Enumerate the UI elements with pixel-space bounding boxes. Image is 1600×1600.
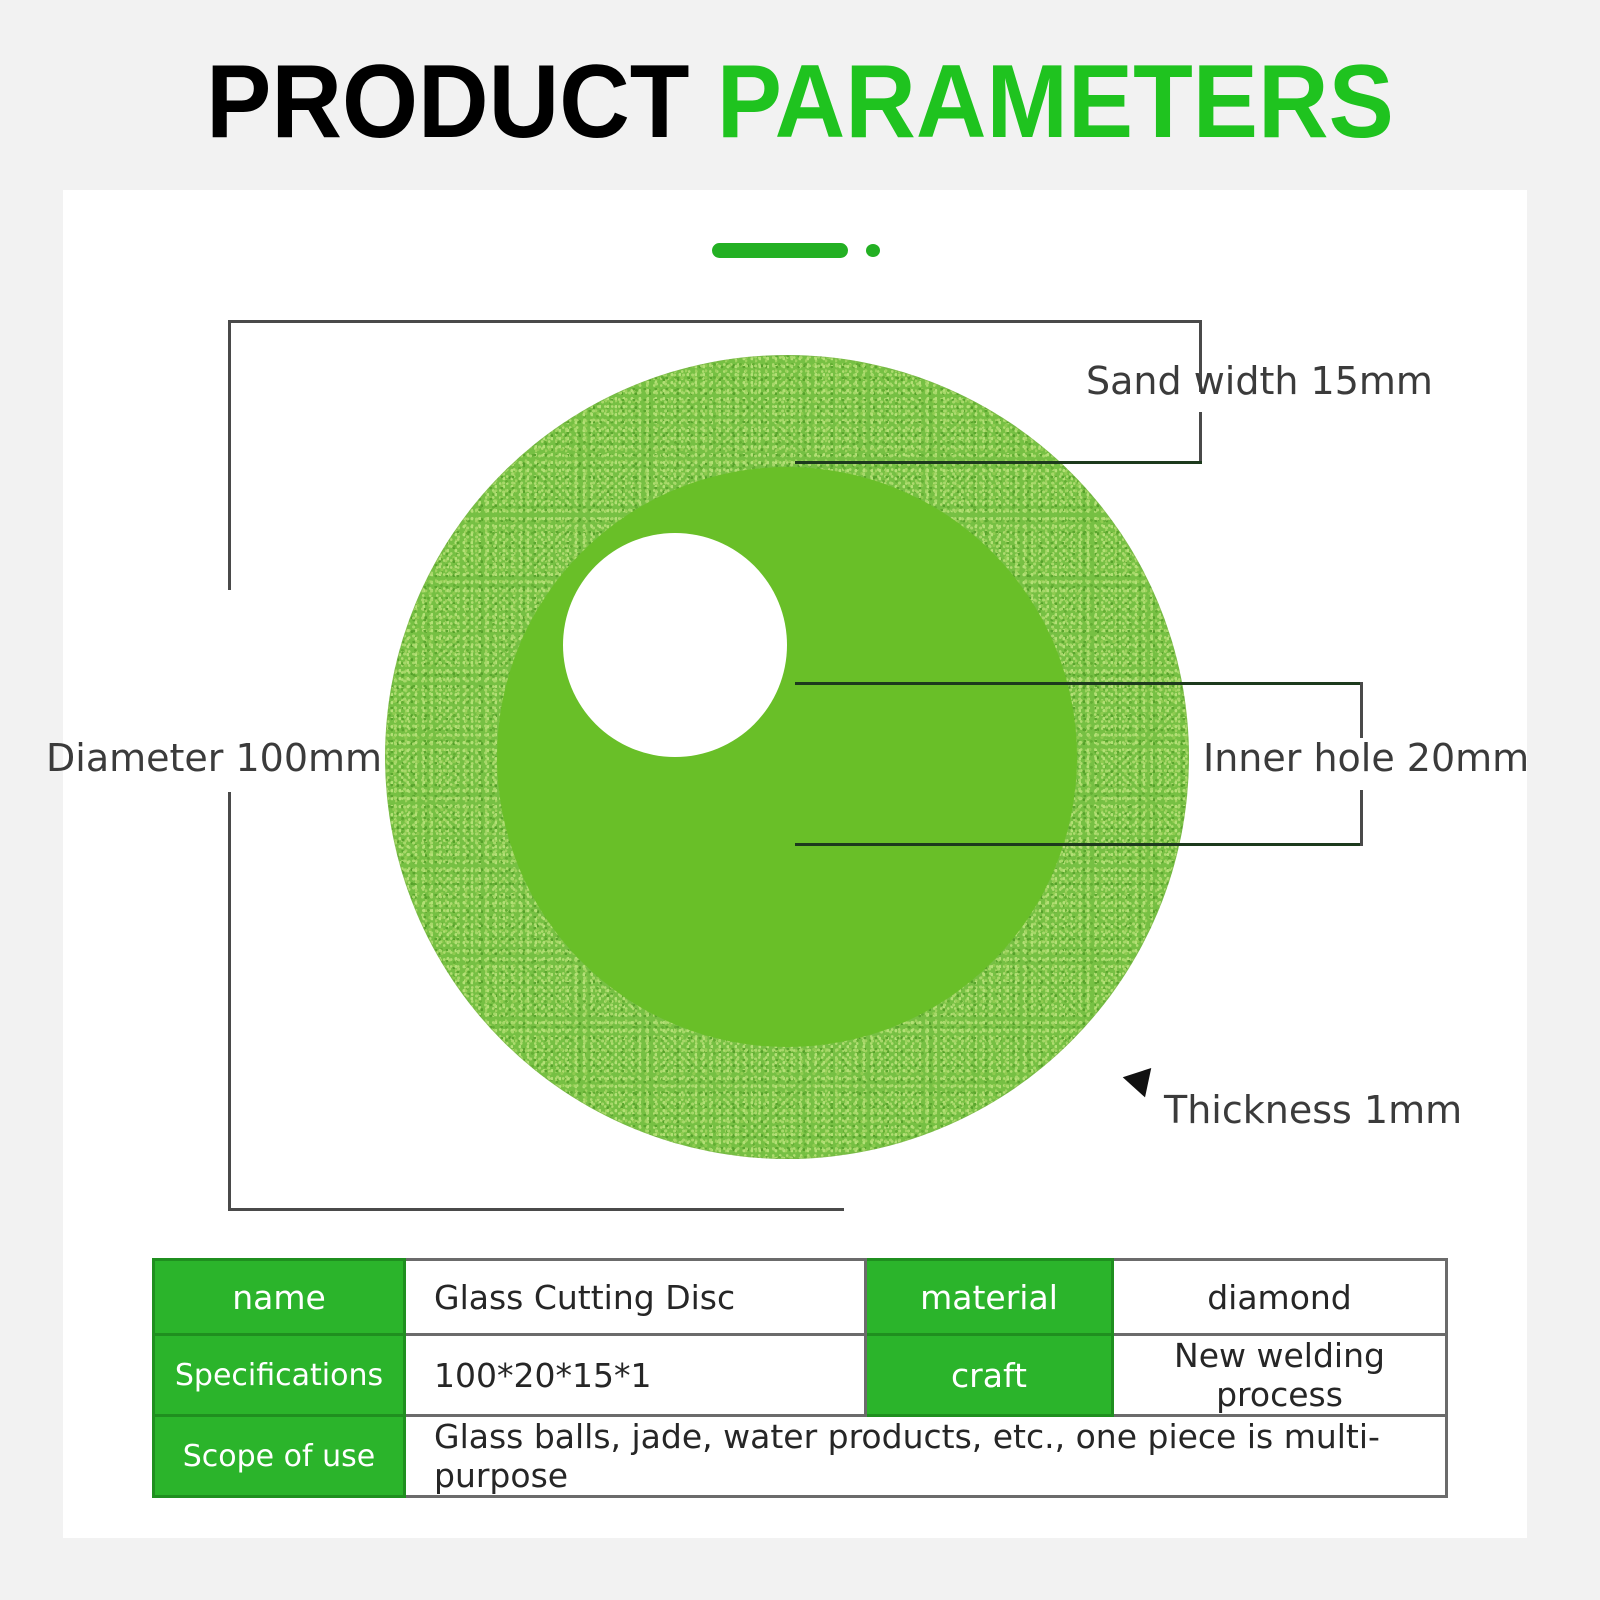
spec-key-craft: craft: [866, 1335, 1113, 1416]
table-row: name Glass Cutting Disc material diamond: [154, 1260, 1447, 1335]
header-decoration: [712, 240, 912, 262]
spec-value-craft: New welding process: [1113, 1335, 1447, 1416]
green-dot-icon: [866, 244, 880, 257]
spec-value-material: diamond: [1113, 1260, 1447, 1335]
page-title: PRODUCT PARAMETERS: [48, 46, 1552, 158]
spec-table: name Glass Cutting Disc material diamond…: [152, 1258, 1448, 1498]
spec-key-scope: Scope of use: [154, 1416, 405, 1497]
spec-value-scope: Glass balls, jade, water products, etc.,…: [405, 1416, 1447, 1497]
spec-value-name: Glass Cutting Disc: [405, 1260, 866, 1335]
page-title-part2: PARAMETERS: [717, 44, 1394, 160]
spec-key-specifications: Specifications: [154, 1335, 405, 1416]
spec-key-material: material: [866, 1260, 1113, 1335]
spec-value-specifications: 100*20*15*1: [405, 1335, 866, 1416]
spec-key-name: name: [154, 1260, 405, 1335]
table-row: Scope of use Glass balls, jade, water pr…: [154, 1416, 1447, 1497]
page-title-part1: PRODUCT: [206, 44, 689, 160]
table-row: Specifications 100*20*15*1 craft New wel…: [154, 1335, 1447, 1416]
green-bar-icon: [712, 243, 848, 258]
